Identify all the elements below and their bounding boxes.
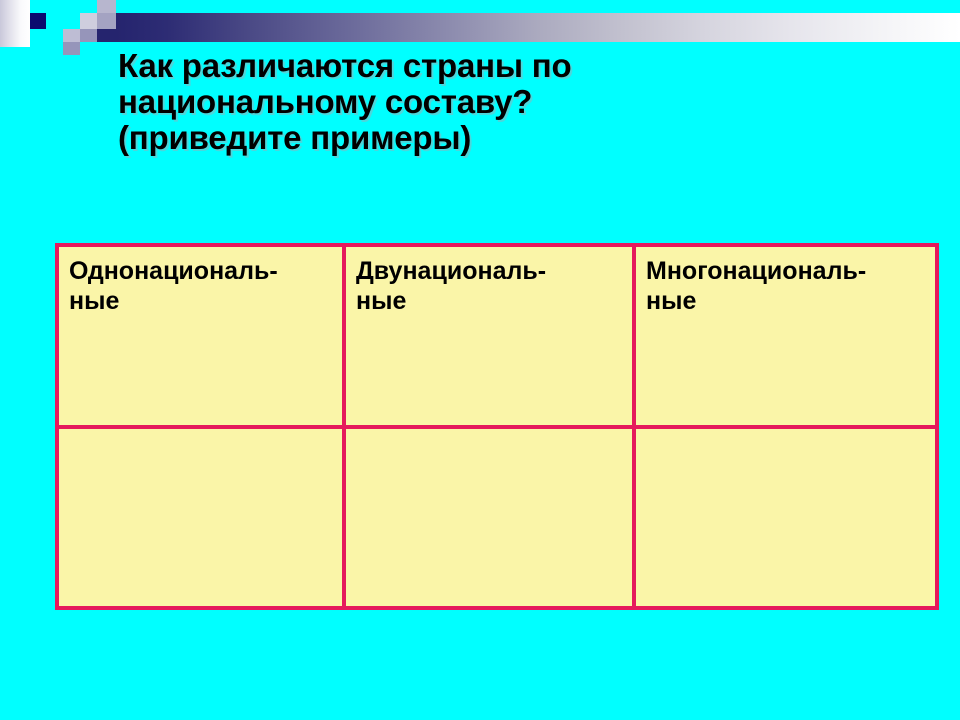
decor-square (30, 29, 46, 42)
decor-square (80, 13, 97, 29)
table-cell-binational-answer[interactable] (344, 427, 634, 608)
comparison-table: Однонациональ- ные Двунациональ- ные Мно… (55, 243, 939, 610)
decor-square (97, 13, 116, 29)
banner-gradient-bar (116, 13, 960, 42)
decor-square (63, 13, 80, 29)
slide-canvas: Как различаются страны по национальному … (0, 0, 960, 720)
decor-square (80, 42, 116, 55)
decor-square (46, 29, 63, 42)
table-header-cell-multinational[interactable]: Многонациональ- ные (634, 245, 937, 427)
decor-square (63, 0, 80, 13)
comparison-table-wrapper: Однонациональ- ные Двунациональ- ные Мно… (55, 243, 935, 572)
slide-title: Как различаются страны по национальному … (118, 48, 818, 156)
decor-square (97, 0, 116, 13)
decor-square (116, 0, 960, 13)
table-cell-mononational-answer[interactable] (57, 427, 344, 608)
table-header-cell-binational[interactable]: Двунациональ- ные (344, 245, 634, 427)
table-cell-multinational-answer[interactable] (634, 427, 937, 608)
decor-square (46, 13, 63, 29)
table-row (57, 427, 937, 608)
decor-square (30, 0, 46, 13)
banner-white-strip (0, 0, 30, 47)
decor-square (63, 42, 80, 55)
decor-square (97, 29, 116, 42)
table-header-cell-mononational[interactable]: Однонациональ- ные (57, 245, 344, 427)
decor-square (30, 13, 46, 29)
table-header-row: Однонациональ- ные Двунациональ- ные Мно… (57, 245, 937, 427)
decor-square (80, 0, 97, 13)
decor-square (80, 29, 97, 42)
decor-square (63, 29, 80, 42)
decor-square (46, 0, 63, 13)
